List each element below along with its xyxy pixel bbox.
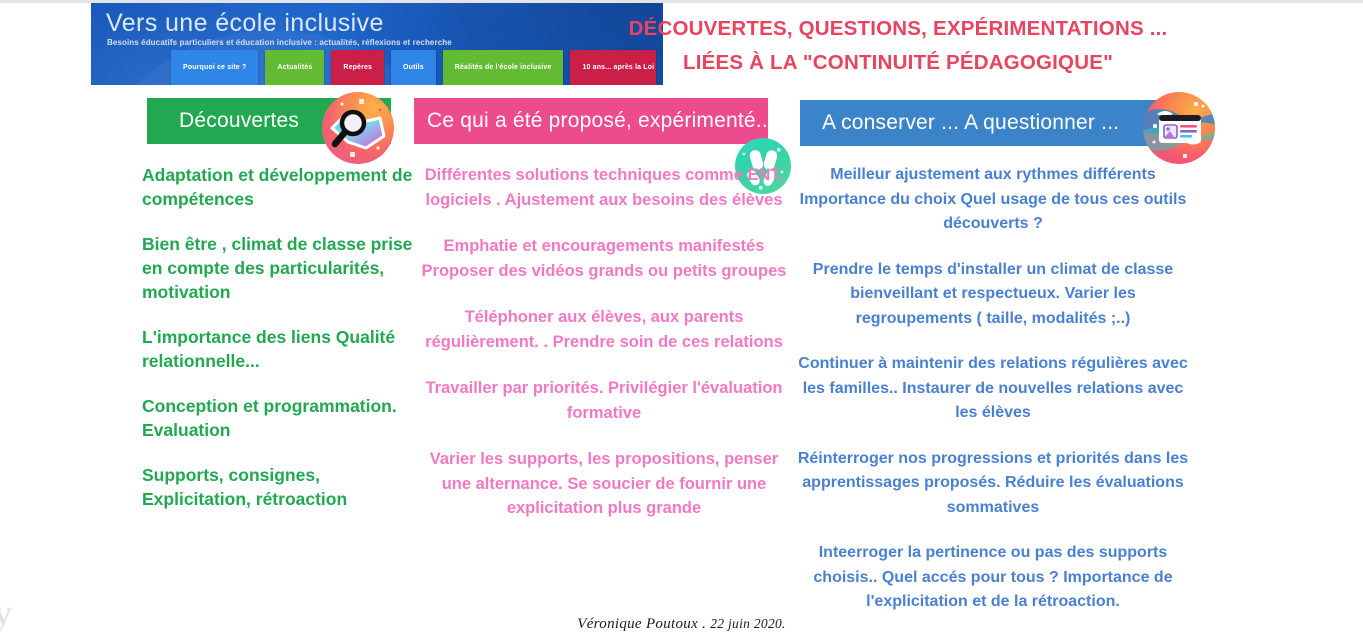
publication-date: 22 juin 2020. bbox=[710, 616, 786, 631]
list-item: Bien être , climat de classe prise en co… bbox=[142, 232, 414, 304]
column-discoveries-body: Adaptation et développement de compétenc… bbox=[142, 163, 414, 511]
site-banner-subtitle: Besoins éducatifs particuliers et éducat… bbox=[107, 38, 452, 47]
author-signature: Véronique Poutoux . 22 juin 2020. bbox=[0, 616, 1363, 633]
column-header-proposed-label: Ce qui a été proposé, expérimenté... bbox=[427, 109, 774, 133]
list-item: Continuer à maintenir des relations régu… bbox=[795, 352, 1191, 426]
list-item: Inteerroger la pertinence ou pas des sup… bbox=[795, 541, 1191, 615]
site-banner-title: Vers une école inclusive bbox=[106, 9, 384, 38]
nav-item-outils[interactable]: Outils bbox=[391, 50, 436, 85]
list-item: Adaptation et développement de compétenc… bbox=[142, 163, 414, 211]
slide-canvas: Vers une école inclusive Besoins éducati… bbox=[0, 0, 1363, 643]
web-card-icon bbox=[1143, 92, 1215, 164]
page-title-line-1: DÉCOUVERTES, QUESTIONS, EXPÉRIMENTATIONS… bbox=[629, 17, 1168, 40]
list-item: Conception et programmation. Evaluation bbox=[142, 394, 414, 442]
list-item: Téléphoner aux élèves, aux parents régul… bbox=[414, 305, 794, 354]
column-keep-question-body: Meilleur ajustement aux rythmes différen… bbox=[795, 163, 1191, 615]
column-header-keep-question-label: A conserver ... A questionner ... bbox=[822, 111, 1119, 135]
nav-item-pourquoi-ce-site[interactable]: Pourquoi ce site ? bbox=[171, 50, 258, 85]
list-item: L'importance des liens Qualité relationn… bbox=[142, 325, 414, 373]
page-title: DÉCOUVERTES, QUESTIONS, EXPÉRIMENTATIONS… bbox=[448, 12, 1348, 80]
list-item: Supports, consignes, Explicitation, rétr… bbox=[142, 463, 414, 511]
column-header-proposed: Ce qui a été proposé, expérimenté... bbox=[414, 98, 768, 144]
list-item: Prendre le temps d'installer un climat d… bbox=[795, 258, 1191, 332]
list-item: Différentes solutions techniques comme E… bbox=[414, 163, 794, 212]
author-name: Véronique Poutoux . bbox=[577, 616, 706, 632]
column-header-discoveries-label: Découvertes bbox=[179, 109, 299, 133]
list-item: Réinterroger nos progressions et priorit… bbox=[795, 447, 1191, 521]
magnifier-icon bbox=[322, 92, 394, 164]
watermark-glyph: y bbox=[0, 592, 12, 634]
nav-item-reperes[interactable]: Repères bbox=[331, 50, 384, 85]
list-item: Varier les supports, les propositions, p… bbox=[414, 447, 794, 521]
list-item: Emphatie et encouragements manifestés Pr… bbox=[414, 234, 794, 283]
page-title-line-2: LIÉES À LA "CONTINUITÉ PÉDAGOGIQUE" bbox=[448, 46, 1348, 80]
list-item: Meilleur ajustement aux rythmes différen… bbox=[795, 163, 1191, 237]
column-header-keep-question: A conserver ... A questionner ... bbox=[800, 100, 1200, 146]
nav-item-actualites[interactable]: Actualités bbox=[265, 50, 324, 85]
column-proposed-body: Différentes solutions techniques comme E… bbox=[414, 163, 794, 521]
list-item: Travailler par priorités. Privilégier l'… bbox=[414, 376, 794, 425]
